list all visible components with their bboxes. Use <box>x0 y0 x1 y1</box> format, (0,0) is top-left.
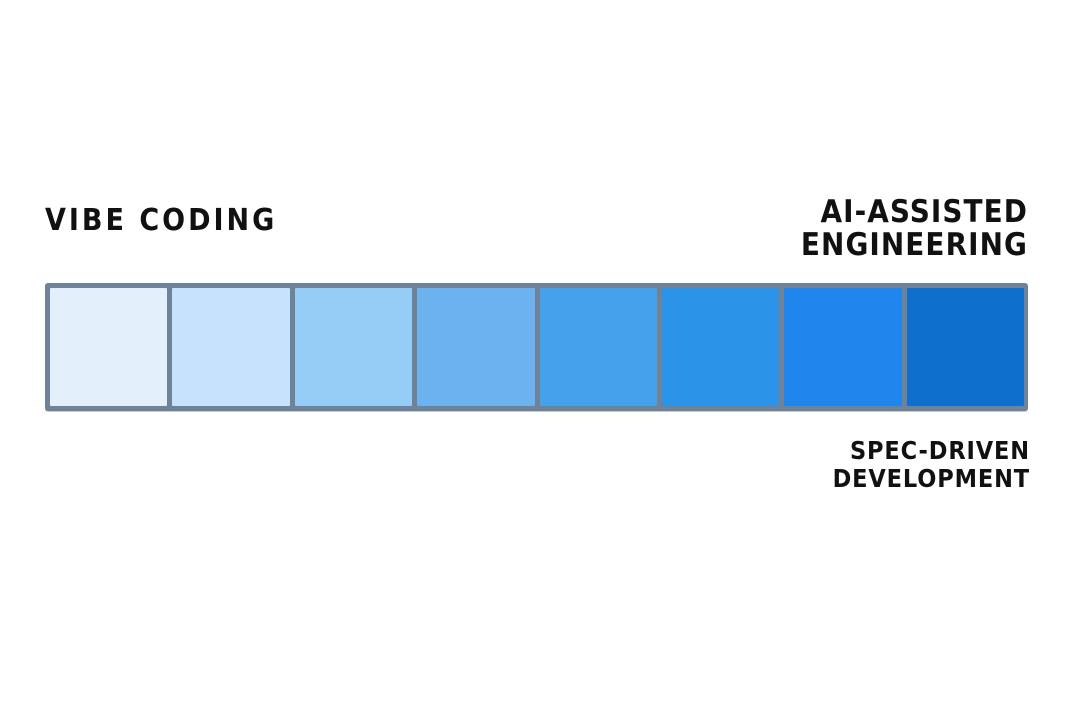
label-vibe-coding: VIBE CODING <box>45 205 277 237</box>
spectrum-segment-3 <box>295 288 412 406</box>
spectrum-segment-7 <box>784 288 901 406</box>
spectrum-segment-4 <box>417 288 534 406</box>
spectrum-segment-6 <box>662 288 779 406</box>
spectrum-segment-1 <box>50 288 167 406</box>
spectrum-segment-2 <box>172 288 289 406</box>
spectrum-diagram: VIBE CODING AI-ASSISTED ENGINEERING SPEC… <box>0 0 1080 720</box>
spectrum-bar <box>45 283 1028 411</box>
spectrum-segment-8 <box>907 288 1024 406</box>
label-ai-assisted-engineering: AI-ASSISTED ENGINEERING <box>801 196 1028 263</box>
spectrum-segment-5 <box>540 288 657 406</box>
label-spec-driven-development: SPEC-DRIVEN DEVELOPMENT <box>833 437 1030 493</box>
